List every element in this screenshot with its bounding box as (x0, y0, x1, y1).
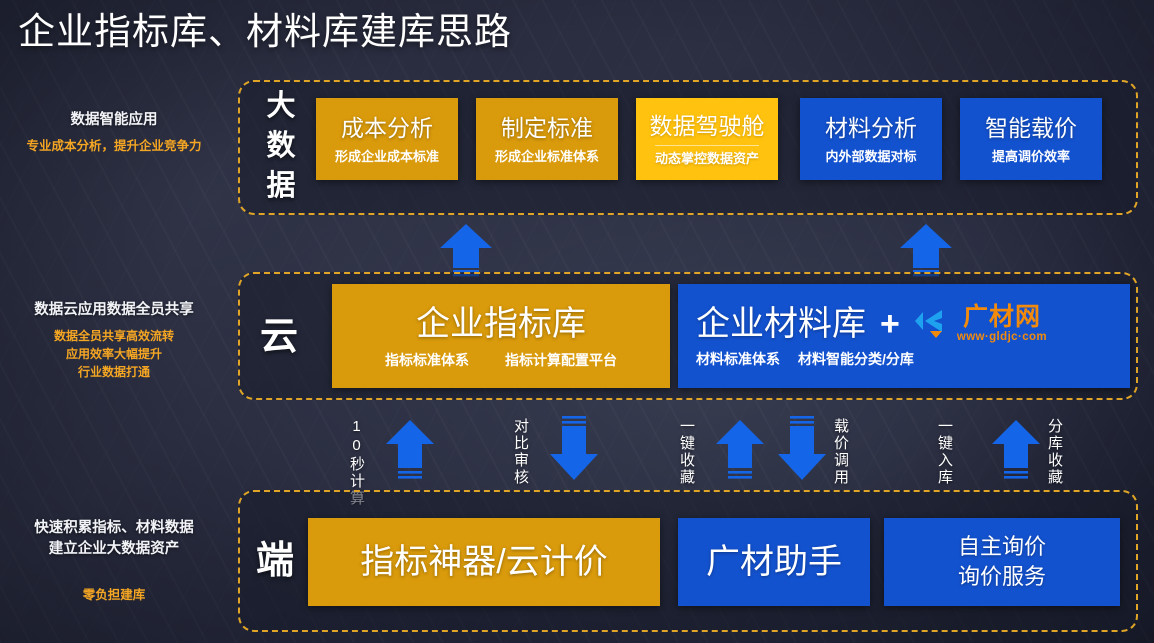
gldjc-logo-mark (912, 307, 952, 341)
plus-icon: + (880, 307, 900, 341)
card-smart-pricing-title: 智能载价 (985, 113, 1077, 144)
flow-label-sub-library-favorite: 分库收藏 (1046, 418, 1063, 486)
card-cost-analysis-title: 成本分析 (341, 113, 433, 144)
tier-label-big-data: 大数据 (256, 86, 306, 206)
card-enterprise-index-library-title: 企业指标库 (416, 301, 586, 347)
card-enterprise-material-library-sub-2: 材料智能分类/分库 (798, 348, 914, 370)
flow-label-one-click-import: 一键入库 (936, 418, 953, 486)
caption-end-sub: 零负担建库 (0, 586, 228, 604)
card-gldjc-assistant-title: 广材助手 (706, 540, 842, 584)
card-set-standard-sub: 形成企业标准体系 (495, 147, 599, 167)
card-enterprise-material-library-sub-1: 材料标准体系 (696, 348, 780, 370)
gldjc-logo-url: www·gldjc·com (957, 330, 1047, 344)
caption-big-data-main: 数据智能应用 (0, 110, 228, 131)
card-enterprise-index-library-sub-1: 指标标准体系 (385, 349, 469, 371)
caption-cloud-sub-3: 行业数据打通 (0, 363, 228, 381)
card-index-tool-cloud-pricing-title: 指标神器/云计价 (360, 540, 607, 584)
caption-big-data: 数据智能应用 专业成本分析，提升企业竞争力 (0, 110, 228, 155)
flow-arrow-down-compare-audit (548, 414, 600, 484)
card-smart-pricing-sub: 提高调价效率 (992, 147, 1070, 167)
card-material-analysis[interactable]: 材料分析 内外部数据对标 (800, 98, 942, 180)
card-material-analysis-sub: 内外部数据对标 (825, 147, 916, 167)
flow-label-compare-audit: 对比审核 (512, 418, 529, 486)
card-cost-analysis-sub: 形成企业成本标准 (335, 147, 439, 167)
card-cost-analysis[interactable]: 成本分析 形成企业成本标准 (316, 98, 458, 180)
card-data-cockpit-sub: 动态掌控数据资产 (655, 145, 759, 169)
flow-label-price-call: 载价调用 (832, 418, 849, 486)
caption-cloud-sub-1: 数据全员共享高效流转 (0, 327, 228, 345)
tier-label-cloud: 云 (248, 302, 310, 372)
card-self-inquiry-title-1: 自主询价 (958, 532, 1046, 562)
card-set-standard[interactable]: 制定标准 形成企业标准体系 (476, 98, 618, 180)
card-gldjc-assistant[interactable]: 广材助手 (678, 518, 870, 606)
gldjc-logo-name: 广材网 (957, 304, 1047, 330)
flow-label-one-click-favorite: 一键收藏 (678, 418, 695, 486)
flow-arrow-up-one-click-import (990, 418, 1042, 484)
card-data-cockpit-title: 数据驾驶舱 (650, 111, 765, 142)
gldjc-logo: 广材网 www·gldjc·com (912, 304, 1047, 344)
caption-cloud-sub-2: 应用效率大幅提升 (0, 345, 228, 363)
card-enterprise-index-library-sub-2: 指标计算配置平台 (505, 349, 617, 371)
card-self-inquiry-title-2: 询价服务 (958, 562, 1046, 592)
flow-arrow-up-one-click-favorite (714, 418, 766, 484)
flow-arrow-up-right (898, 222, 954, 278)
card-material-analysis-title: 材料分析 (825, 113, 917, 144)
card-self-inquiry[interactable]: 自主询价 询价服务 (884, 518, 1120, 606)
tier-label-end: 端 (244, 530, 306, 592)
caption-cloud-main: 数据云应用数据全员共享 (0, 300, 228, 321)
card-enterprise-material-library[interactable]: 企业材料库 + 广材网 www·gldjc·com 材料标准体系 材料智能分类/… (678, 284, 1130, 388)
card-enterprise-index-library[interactable]: 企业指标库 指标标准体系 指标计算配置平台 (332, 284, 670, 388)
caption-end: 快速积累指标、材料数据 建立企业大数据资产 零负担建库 (0, 518, 228, 604)
card-set-standard-title: 制定标准 (501, 113, 593, 144)
caption-big-data-sub: 专业成本分析，提升企业竞争力 (0, 137, 228, 155)
card-index-tool-cloud-pricing[interactable]: 指标神器/云计价 (308, 518, 660, 606)
caption-end-main-1: 快速积累指标、材料数据 (0, 518, 228, 539)
flow-arrow-up-10s-calc (384, 418, 436, 484)
caption-end-main-2: 建立企业大数据资产 (0, 539, 228, 560)
page-title: 企业指标库、材料库建库思路 (18, 8, 512, 56)
card-enterprise-material-library-title: 企业材料库 (696, 302, 866, 346)
card-smart-pricing[interactable]: 智能载价 提高调价效率 (960, 98, 1102, 180)
caption-cloud: 数据云应用数据全员共享 数据全员共享高效流转 应用效率大幅提升 行业数据打通 (0, 300, 228, 381)
flow-arrow-down-price-call (776, 414, 828, 484)
card-data-cockpit[interactable]: 数据驾驶舱 动态掌控数据资产 (636, 98, 778, 180)
slide-canvas: 企业指标库、材料库建库思路 数据智能应用 专业成本分析，提升企业竞争力 数据云应… (0, 0, 1154, 643)
flow-arrow-up-left (438, 222, 494, 278)
